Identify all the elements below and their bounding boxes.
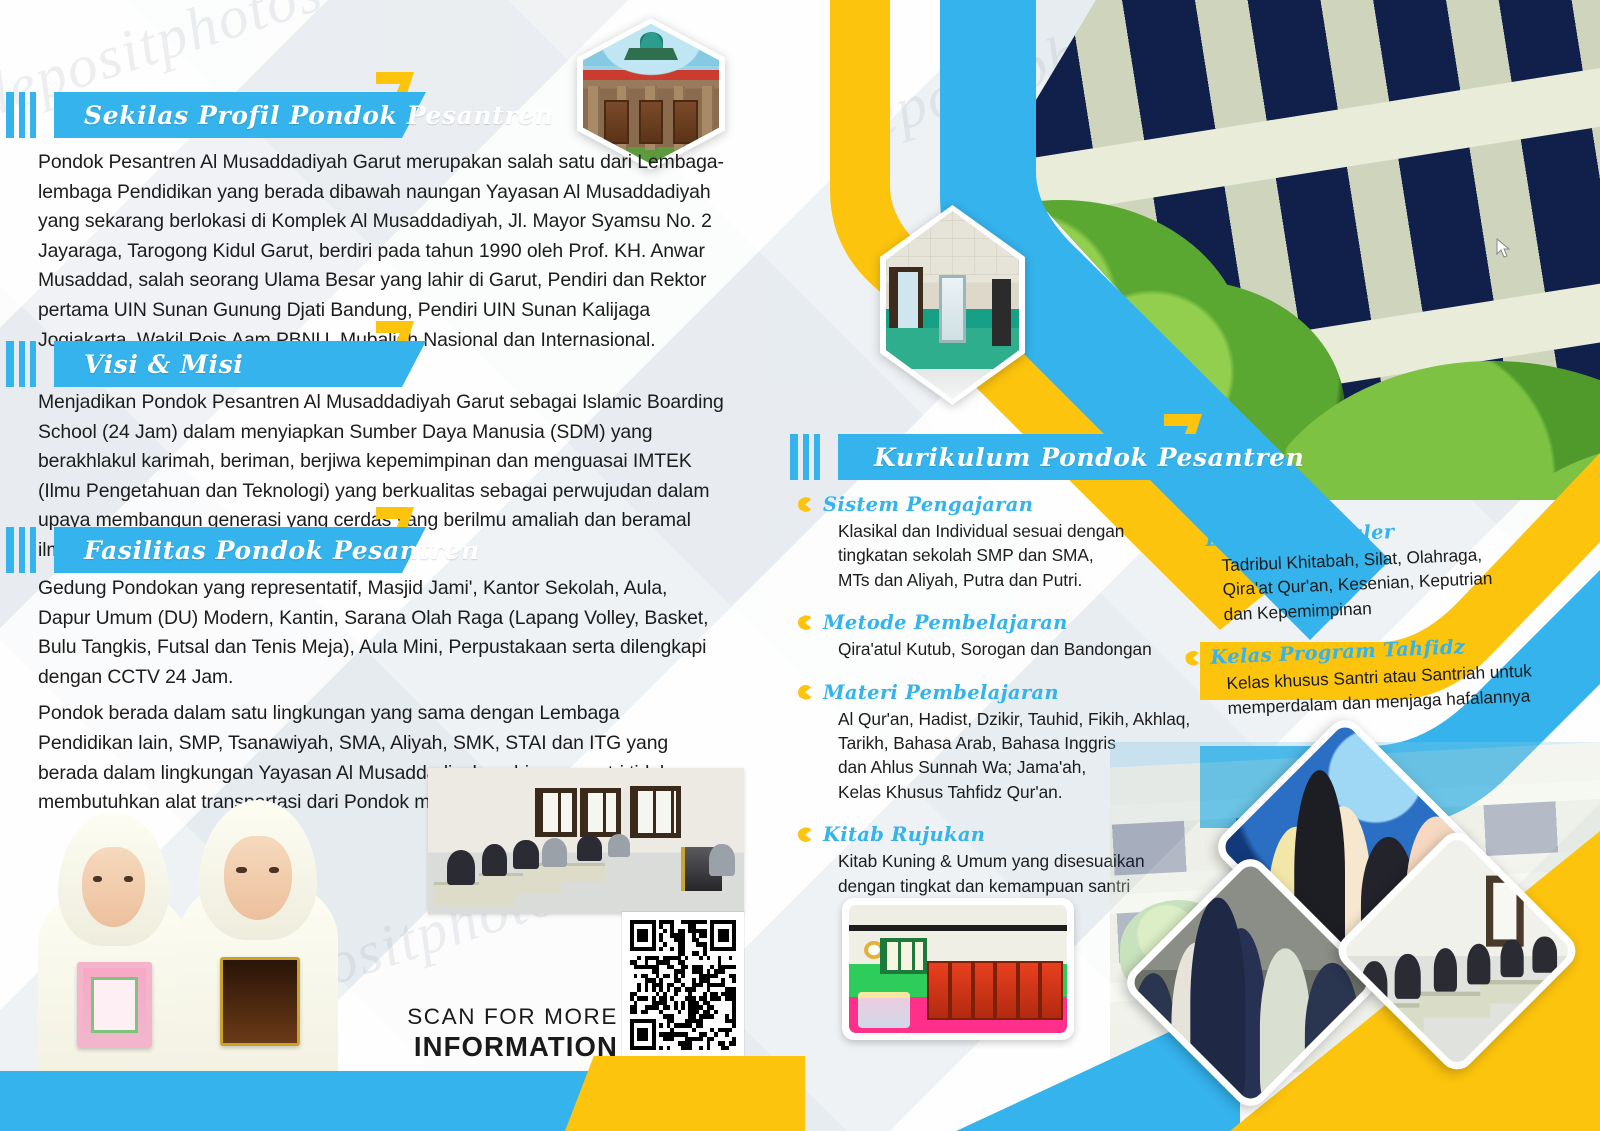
curriculum-item-line: MTs dan Aliyah, Putra dan Putri. (838, 568, 1218, 592)
qr-code[interactable] (622, 912, 744, 1058)
scan-cta-line1: SCAN FOR MORE (398, 1004, 618, 1030)
section-title: Sekilas Profil Pondok Pesantren (66, 92, 553, 138)
brochure-canvas: depositphotos depositphotos depositphoto… (0, 0, 1600, 1131)
bullet-icon (1185, 650, 1201, 666)
stripe-accent (790, 434, 834, 480)
qr-module (732, 1046, 736, 1050)
curriculum-item-body: Tadribul Khitabah, Silat, Olahraga,Qira'… (1221, 540, 1544, 627)
corridor-hexagon-photo (880, 205, 1025, 405)
curriculum-item-line: Klasikal dan Individual sesuai dengan (838, 519, 1218, 543)
scan-cta-line2: INFORMATION (398, 1031, 618, 1063)
section-heading-kurikulum: Kurikulum Pondok Pesantren (790, 434, 1220, 480)
right-panel: Kurikulum Pondok Pesantren Sistem Pengaj… (780, 0, 1600, 1131)
bullet-icon (798, 685, 813, 700)
student-figure (178, 800, 338, 1080)
bullet-icon (798, 827, 813, 842)
curriculum-item-body: Qira'atul Kutub, Sorogan dan Bandongan (838, 637, 1218, 661)
students-cutout-photo (28, 800, 358, 1080)
classroom-photo (428, 768, 744, 914)
paragraph: Gedung Pondokan yang representatif, Masj… (38, 574, 710, 692)
curriculum-item-body: Klasikal dan Individual sesuai dengantin… (838, 519, 1218, 592)
curriculum-item-line: tingkatan sekolah SMP dan SMA, (838, 543, 1218, 567)
section-title: Visi & Misi (66, 341, 243, 387)
stripe-accent (6, 92, 50, 138)
curriculum-item-line: Qira'atul Kutub, Sorogan dan Bandongan (838, 637, 1218, 661)
dormitory-photo (842, 898, 1074, 1040)
footer-bar-blue (0, 1071, 620, 1131)
scan-cta: SCAN FOR MORE INFORMATION (398, 1004, 618, 1063)
curriculum-item-heading: Materi Pembelajaran (823, 680, 1218, 705)
curriculum-item: Metode PembelajaranQira'atul Kutub, Soro… (798, 610, 1218, 661)
curriculum-item-heading: Sistem Pengajaran (823, 492, 1218, 517)
section-title: Kurikulum Pondok Pesantren (856, 434, 1304, 480)
left-panel: Sekilas Profil Pondok Pesantren Pondok P… (0, 0, 780, 1131)
student-figure (38, 812, 188, 1080)
section-title: Fasilitas Pondok Pesantren (66, 527, 480, 573)
section-heading-fasilitas: Fasilitas Pondok Pesantren (6, 527, 426, 573)
curriculum-item: Ekstra KurikulerTadribul Khitabah, Silat… (1180, 513, 1544, 628)
bullet-icon (1180, 532, 1196, 548)
section-heading-visi-misi: Visi & Misi (6, 341, 426, 387)
curriculum-item-line: Al Qur'an, Hadist, Dzikir, Tauhid, Fikih… (838, 707, 1218, 731)
section-heading-profil: Sekilas Profil Pondok Pesantren (6, 92, 426, 138)
curriculum-item-heading: Metode Pembelajaran (823, 610, 1218, 635)
curriculum-item: Kelas Program TahfidzKelas khusus Santri… (1185, 631, 1548, 722)
bullet-icon (798, 615, 813, 630)
footer-bar-yellow (565, 1056, 805, 1131)
curriculum-list-right: Ekstra KurikulerTadribul Khitabah, Silat… (1180, 513, 1549, 740)
curriculum-item: Sistem PengajaranKlasikal dan Individual… (798, 492, 1218, 592)
stripe-accent (6, 341, 50, 387)
stripe-accent (6, 527, 50, 573)
bullet-icon (798, 497, 813, 512)
